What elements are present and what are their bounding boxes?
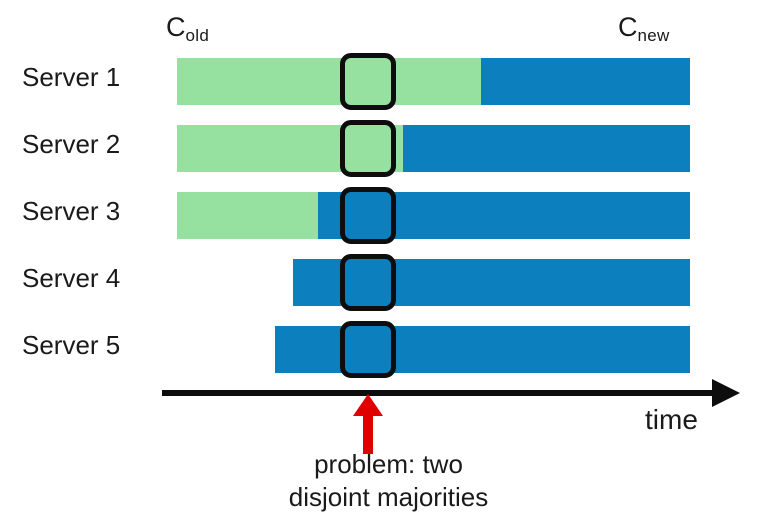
config-old-label: Cold bbox=[166, 14, 209, 41]
segment-config-old-1 bbox=[177, 58, 481, 105]
server-label-2: Server 2 bbox=[22, 131, 157, 157]
segment-config-new-2 bbox=[403, 125, 690, 172]
server-label-4: Server 4 bbox=[22, 265, 157, 291]
callout-arrow-icon bbox=[350, 392, 386, 454]
caption-line-2: disjoint majorities bbox=[0, 481, 777, 514]
config-new-subscript: new bbox=[638, 26, 670, 45]
segment-config-old-3 bbox=[177, 192, 318, 239]
time-axis-label: time bbox=[645, 406, 698, 434]
caption-line-1: problem: two bbox=[0, 448, 777, 481]
timeline-row-2 bbox=[177, 125, 690, 172]
callout-caption: problem: two disjoint majorities bbox=[0, 448, 777, 514]
server-label-3: Server 3 bbox=[22, 198, 157, 224]
timeline-row-3 bbox=[177, 192, 690, 239]
segment-config-new-3 bbox=[318, 192, 690, 239]
timeline-row-5 bbox=[275, 326, 690, 373]
config-old-subscript: old bbox=[186, 26, 210, 45]
timeline-row-4 bbox=[293, 259, 690, 306]
server-label-1: Server 1 bbox=[22, 64, 157, 90]
segment-config-new-4 bbox=[293, 259, 690, 306]
segment-config-new-1 bbox=[481, 58, 690, 105]
config-new-base: C bbox=[618, 12, 638, 42]
config-old-base: C bbox=[166, 12, 186, 42]
segment-config-new-5 bbox=[275, 326, 690, 373]
segment-config-old-2 bbox=[177, 125, 403, 172]
server-label-5: Server 5 bbox=[22, 332, 157, 358]
config-new-label: Cnew bbox=[618, 14, 670, 41]
timeline-row-1 bbox=[177, 58, 690, 105]
figure-canvas: Cold Cnew Server 1 Server 2 Server 3 Ser… bbox=[0, 0, 777, 531]
